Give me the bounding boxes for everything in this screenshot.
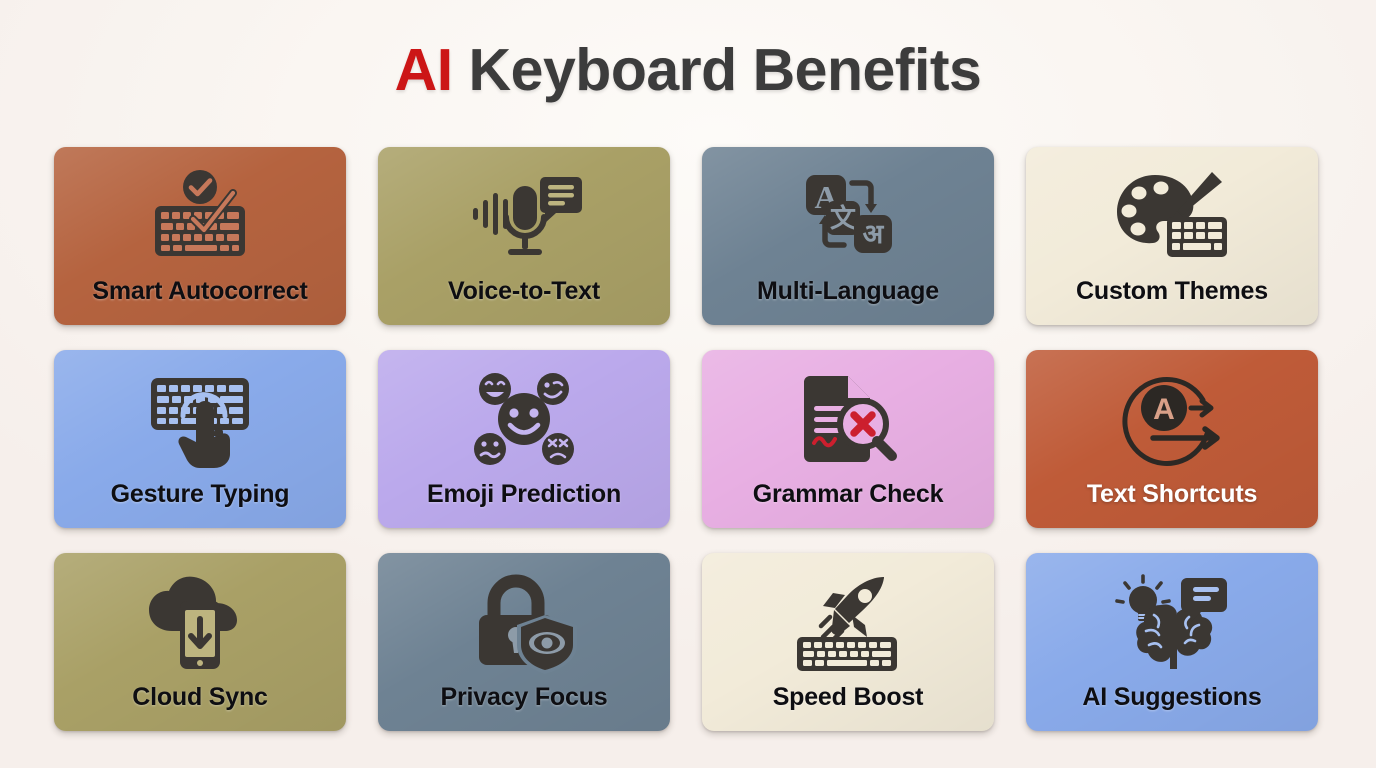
benefit-card-label: Smart Autocorrect — [92, 277, 307, 306]
benefit-card-label: Custom Themes — [1076, 277, 1268, 306]
cloud-phone-download-icon — [125, 572, 275, 674]
palette-brush-keyboard-icon — [1097, 166, 1247, 268]
svg-text:A: A — [1153, 393, 1175, 426]
benefits-grid: Smart Autocorrect — [54, 147, 1322, 731]
keyboard-swipe-hand-icon — [125, 369, 275, 471]
letter-a-arrows-icon: A — [1097, 369, 1247, 471]
benefit-card-grammar-check[interactable]: Grammar Check — [702, 350, 994, 528]
title-accent: AI — [395, 37, 453, 103]
benefit-card-cloud-sync[interactable]: Cloud Sync — [54, 553, 346, 731]
benefit-card-label: Privacy Focus — [441, 683, 608, 712]
benefit-card-speed-boost[interactable]: Speed Boost — [702, 553, 994, 731]
benefit-card-label: Gesture Typing — [111, 480, 290, 509]
lock-shield-eye-icon — [449, 572, 599, 674]
benefit-card-label: Speed Boost — [773, 683, 924, 712]
title-rest: Keyboard Benefits — [453, 37, 982, 103]
benefit-card-voice-to-text[interactable]: Voice-to-Text — [378, 147, 670, 325]
benefit-card-label: AI Suggestions — [1082, 683, 1261, 712]
svg-text:अ: अ — [863, 219, 885, 249]
benefits-poster: AI Keyboard Benefits — [0, 0, 1376, 768]
translate-languages-icon: A 文 अ — [773, 166, 923, 268]
benefit-card-label: Emoji Prediction — [427, 480, 621, 509]
benefit-card-label: Text Shortcuts — [1087, 480, 1257, 509]
benefit-card-ai-suggestions[interactable]: AI Suggestions — [1026, 553, 1318, 731]
benefit-card-multi-language[interactable]: A 文 अ Multi-Language — [702, 147, 994, 325]
keyboard-check-icon — [125, 166, 275, 268]
rocket-keyboard-icon — [773, 572, 923, 674]
benefit-card-label: Voice-to-Text — [448, 277, 600, 306]
brain-bulb-bubble-icon — [1097, 572, 1247, 674]
page-title: AI Keyboard Benefits — [0, 40, 1376, 102]
benefit-card-custom-themes[interactable]: Custom Themes — [1026, 147, 1318, 325]
microphone-speech-bubble-icon — [449, 166, 599, 268]
document-magnifier-error-icon — [773, 369, 923, 471]
emoji-faces-icon — [449, 369, 599, 471]
benefit-card-label: Grammar Check — [753, 480, 944, 509]
benefit-card-privacy-focus[interactable]: Privacy Focus — [378, 553, 670, 731]
benefit-card-text-shortcuts[interactable]: A Text Shortcuts — [1026, 350, 1318, 528]
benefit-card-label: Multi-Language — [757, 277, 939, 306]
benefit-card-gesture-typing[interactable]: Gesture Typing — [54, 350, 346, 528]
benefit-card-label: Cloud Sync — [132, 683, 268, 712]
benefit-card-emoji-prediction[interactable]: Emoji Prediction — [378, 350, 670, 528]
svg-text:文: 文 — [830, 203, 857, 233]
benefit-card-smart-autocorrect[interactable]: Smart Autocorrect — [54, 147, 346, 325]
